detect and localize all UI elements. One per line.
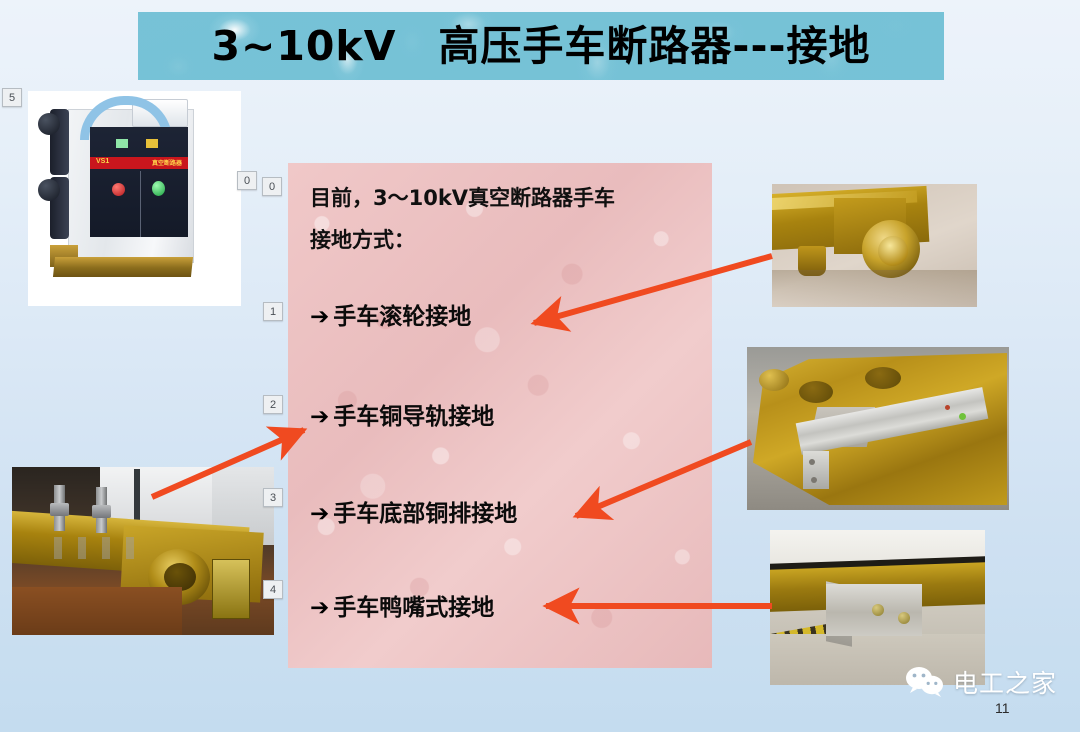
rail-table-surface bbox=[12, 587, 182, 635]
bullet-label-duckbill: 手车鸭嘴式接地 bbox=[333, 597, 494, 620]
breaker-panel-divider bbox=[140, 171, 141, 237]
animation-marker-0b[interactable]: 0 bbox=[262, 177, 282, 196]
trolley-bottom-copper-bar-photo bbox=[12, 467, 274, 635]
bullet-item-roller: ➔ 手车滚轮接地 bbox=[310, 306, 471, 329]
animation-marker-0a[interactable]: 0 bbox=[237, 171, 257, 190]
rail-nut-2 bbox=[92, 505, 111, 518]
animation-marker-3a[interactable]: 3 bbox=[263, 488, 283, 507]
animation-marker-5[interactable]: 5 bbox=[2, 88, 22, 107]
chassis-pivot-knob bbox=[759, 369, 789, 391]
bracket-screw-2 bbox=[898, 612, 910, 624]
wechat-watermark: 电工之家 bbox=[905, 664, 1057, 700]
breaker-close-button bbox=[152, 181, 165, 196]
rail-screw-row bbox=[38, 537, 148, 559]
slide-canvas: 3~10kV 高压手车断路器---接地 VS1 真空断路器 目前，3～10kV真… bbox=[0, 0, 1080, 732]
watermark-text: 电工之家 bbox=[953, 664, 1057, 700]
arrow-bullet-icon: ➔ bbox=[310, 503, 329, 526]
chassis-screw-upper bbox=[809, 459, 815, 465]
content-panel: 目前，3～10kV真空断路器手车 接地方式： ➔ 手车滚轮接地 ➔ 手车铜导轨接… bbox=[288, 163, 712, 668]
breaker-open-button bbox=[112, 183, 125, 196]
breaker-yellow-indicator bbox=[146, 139, 158, 148]
bullet-item-duckbill: ➔ 手车鸭嘴式接地 bbox=[310, 597, 494, 620]
chassis-red-mark bbox=[945, 405, 950, 410]
page-title: 3~10kV 高压手车断路器---接地 bbox=[212, 26, 871, 67]
trolley-copper-rail-photo bbox=[747, 347, 1009, 510]
breaker-bushing-lower bbox=[38, 179, 60, 201]
breaker-red-label-bar: VS1 真空断路器 bbox=[90, 157, 188, 169]
slide-title-banner: 3~10kV 高压手车断路器---接地 bbox=[138, 12, 944, 80]
animation-marker-2[interactable]: 2 bbox=[263, 395, 283, 414]
breaker-brass-base bbox=[53, 257, 193, 277]
bullet-label-roller: 手车滚轮接地 bbox=[333, 306, 471, 329]
breaker-model-label: VS1 bbox=[96, 158, 109, 165]
vs1-vacuum-circuit-breaker-photo: VS1 真空断路器 bbox=[28, 91, 241, 306]
animation-marker-4[interactable]: 4 bbox=[263, 580, 283, 599]
chassis-hole-right bbox=[865, 367, 901, 389]
bullet-label-copper-rail: 手车铜导轨接地 bbox=[333, 406, 494, 429]
chassis-hole-left bbox=[799, 381, 833, 403]
bullet-item-copper-rail: ➔ 手车铜导轨接地 bbox=[310, 406, 494, 429]
trolley-roller-grounding-photo bbox=[772, 184, 977, 307]
bullet-item-bottom-copper-bar: ➔ 手车底部铜排接地 bbox=[310, 503, 517, 526]
breaker-front-panel bbox=[90, 127, 188, 237]
wechat-icon bbox=[905, 665, 945, 699]
breaker-name-label: 真空断路器 bbox=[152, 158, 182, 167]
roller-photo-shadow bbox=[772, 270, 977, 307]
chassis-green-mark bbox=[959, 413, 966, 420]
chassis-rail-foot bbox=[803, 451, 829, 489]
arrow-bullet-icon: ➔ bbox=[310, 406, 329, 429]
breaker-bushing-upper bbox=[38, 113, 60, 135]
intro-line-2: 接地方式： bbox=[310, 219, 696, 261]
roller-wheel-hub bbox=[878, 236, 908, 266]
chassis-screw-lower bbox=[811, 477, 817, 483]
bullet-label-bottom-copper-bar: 手车底部铜排接地 bbox=[333, 503, 517, 526]
breaker-green-indicator bbox=[116, 139, 128, 148]
page-number: 11 bbox=[995, 700, 1010, 716]
rail-latch-bracket bbox=[212, 559, 250, 619]
animation-marker-1[interactable]: 1 bbox=[263, 302, 283, 321]
trolley-duckbill-grounding-photo bbox=[770, 530, 985, 685]
arrow-bullet-icon: ➔ bbox=[310, 597, 329, 620]
bracket-screw-1 bbox=[872, 604, 884, 616]
arrow-bullet-icon: ➔ bbox=[310, 306, 329, 329]
rail-dark-gap bbox=[134, 469, 140, 525]
rail-nut-1 bbox=[50, 503, 69, 516]
intro-line-1: 目前，3～10kV真空断路器手车 bbox=[310, 177, 696, 219]
